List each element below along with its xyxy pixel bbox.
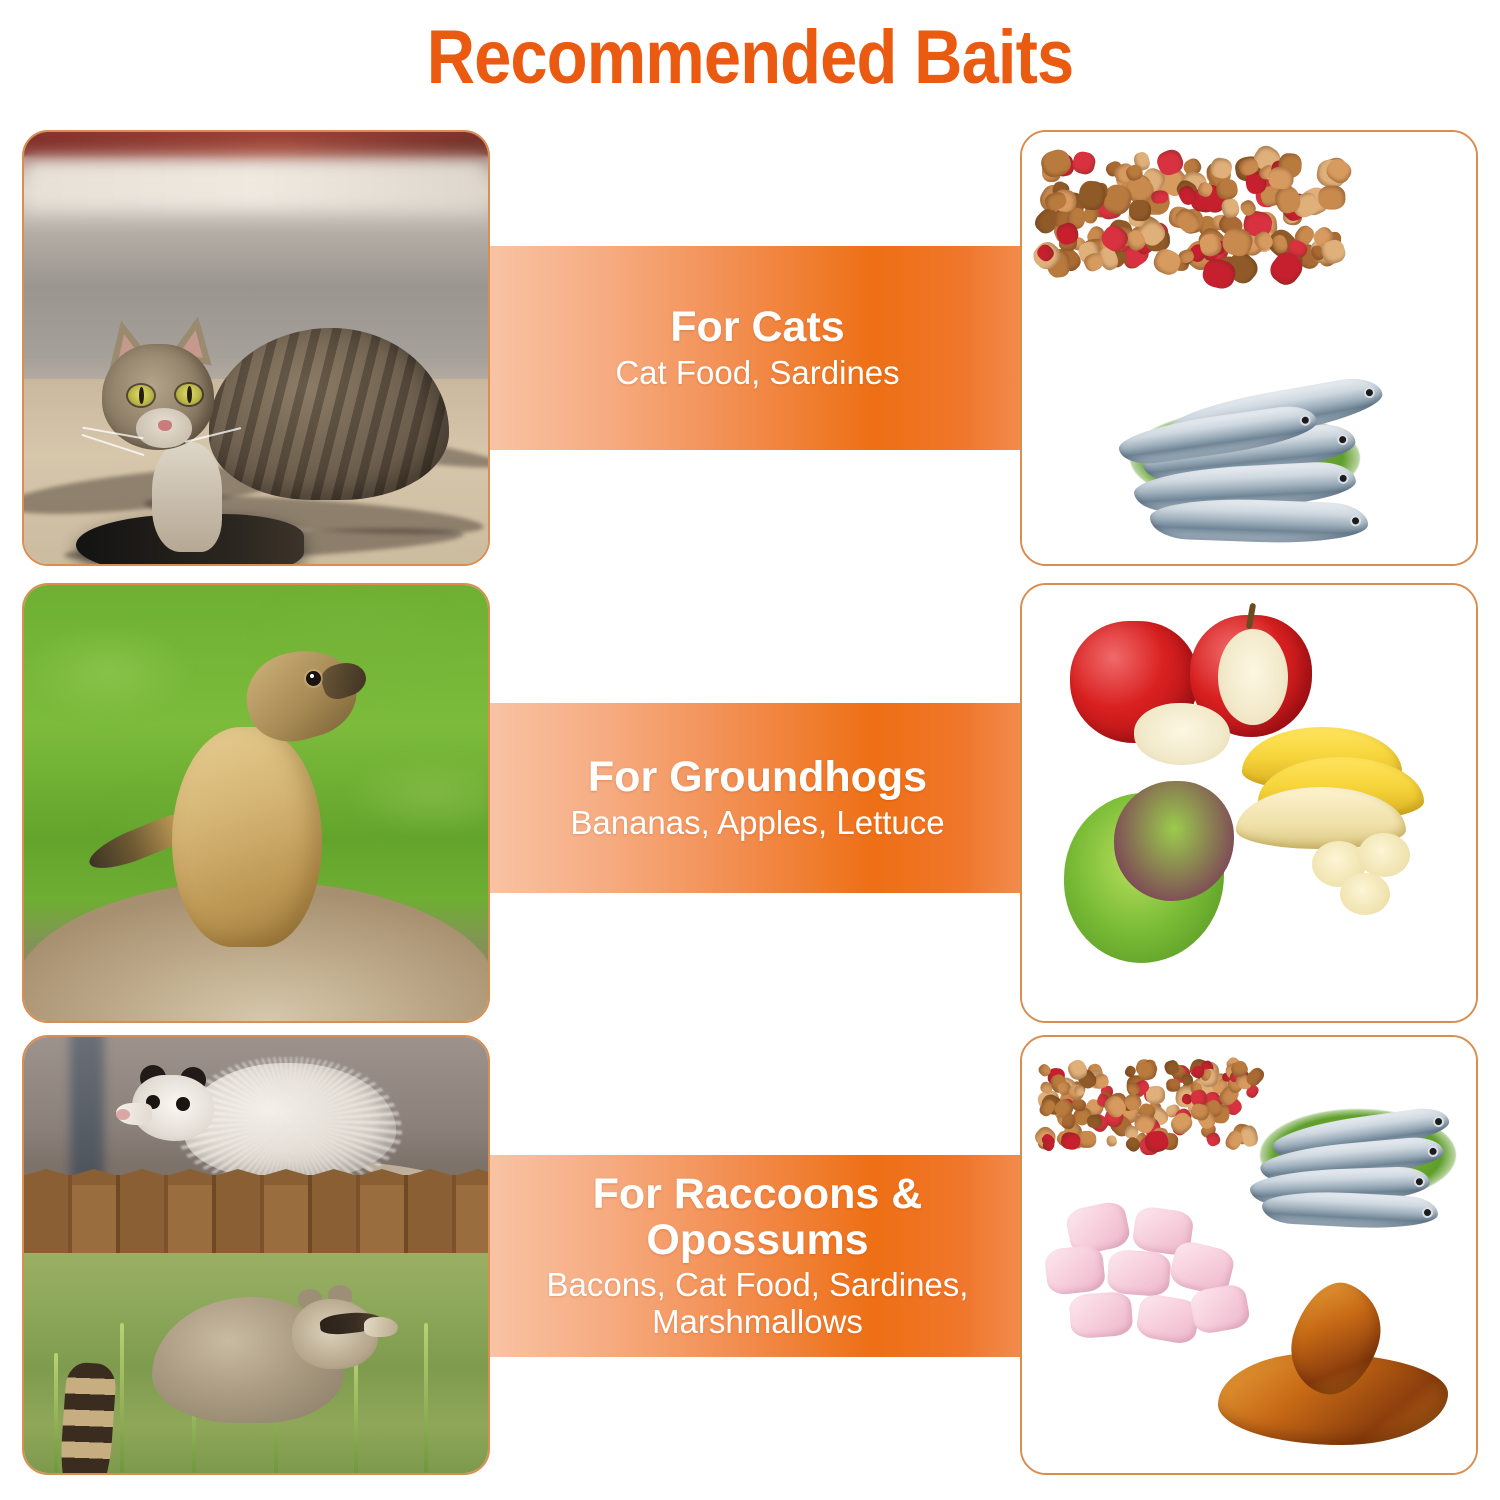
cat-body: [209, 328, 449, 500]
groundhog-photo: [24, 585, 488, 1021]
grass-blade: [424, 1323, 428, 1473]
cat-stripes: [209, 328, 449, 500]
kibble-piece: [1128, 200, 1150, 222]
bait-photo-card-cats: [1020, 130, 1478, 566]
cat-bait-photo: [1022, 132, 1476, 564]
apple-cut-face: [1218, 629, 1288, 725]
marshmallow: [1107, 1249, 1172, 1297]
opossum-nose: [116, 1109, 130, 1120]
bait-photo-card-groundhogs: [1020, 583, 1478, 1023]
opossum-eye-right: [176, 1097, 190, 1111]
opossum-photo: [24, 1037, 488, 1253]
groundhog-bait-photo: [1022, 585, 1476, 1021]
cat-chest: [152, 442, 222, 552]
opossum-body: [184, 1063, 396, 1179]
animal-photo-card-cats: [22, 130, 490, 566]
cat-eye-right: [176, 384, 202, 405]
raccoon-ringed-tail: [57, 1361, 117, 1473]
banner-subtitle-raccoons-opossums-line2: Marshmallows: [652, 1304, 863, 1341]
road-white-blur: [24, 158, 488, 210]
kibble-piece: [1268, 167, 1294, 190]
wooden-fence: [24, 1175, 488, 1253]
grass-blade: [54, 1353, 58, 1473]
banner-subtitle-cats: Cat Food, Sardines: [615, 355, 899, 392]
grass-blade: [354, 1355, 358, 1473]
marshmallow: [1069, 1291, 1134, 1339]
cat-food-kibble: [1036, 1055, 1268, 1159]
marshmallow: [1044, 1244, 1106, 1296]
groundhog-eye: [306, 671, 321, 686]
banner-subtitle-raccoons-opossums-line1: Bacons, Cat Food, Sardines,: [547, 1267, 969, 1304]
kibble-piece: [1166, 1078, 1181, 1091]
cat-eye-left: [128, 385, 154, 406]
cat-nose: [158, 420, 172, 431]
fence-picket: [24, 1169, 68, 1185]
banner-title-raccoons-opossums-line1: For Raccoons &: [593, 1171, 923, 1217]
banner-raccoons-opossums: For Raccoons & Opossums Bacons, Cat Food…: [490, 1155, 1025, 1357]
kibble-piece: [1205, 1131, 1222, 1148]
sardine: [1149, 496, 1368, 546]
banner-groundhogs: For Groundhogs Bananas, Apples, Lettuce: [490, 703, 1025, 893]
animal-photo-card-groundhogs: [22, 583, 490, 1023]
fence-picket: [456, 1169, 488, 1185]
cat-food-kibble: [1032, 146, 1362, 286]
page-title: Recommended Baits: [90, 18, 1410, 98]
raccoon-opossum-bait-photo: [1022, 1037, 1476, 1473]
apple-slice: [1134, 703, 1230, 765]
kibble-piece: [1216, 177, 1240, 200]
kibble-piece: [1318, 186, 1345, 210]
banner-subtitle-groundhogs: Bananas, Apples, Lettuce: [570, 805, 944, 842]
banana-slice: [1358, 833, 1410, 877]
animal-photo-card-raccoons-opossums: [22, 1035, 490, 1475]
kibble-piece: [1073, 1085, 1084, 1096]
sardine: [1261, 1188, 1439, 1231]
fence-picket: [120, 1169, 164, 1185]
fence-picket: [168, 1169, 212, 1185]
blurred-window: [70, 1037, 104, 1181]
raccoon-snout: [364, 1317, 398, 1337]
bait-photo-card-raccoons-opossums: [1020, 1035, 1478, 1475]
banner-title-cats: For Cats: [670, 304, 844, 350]
banner-title-raccoons-opossums-line2: Opossums: [646, 1217, 868, 1263]
raccoon-photo: [24, 1253, 488, 1473]
kibble-piece: [1105, 1134, 1117, 1147]
marshmallows: [1042, 1205, 1262, 1355]
grass-blade: [120, 1323, 124, 1473]
kibble-piece: [1086, 1114, 1102, 1128]
groundhog-body: [172, 727, 322, 947]
kibble-piece: [1078, 180, 1106, 211]
kibble-piece: [1071, 150, 1098, 176]
banner-cats: For Cats Cat Food, Sardines: [490, 246, 1025, 450]
banana-slice: [1340, 873, 1390, 915]
banner-title-groundhogs: For Groundhogs: [588, 754, 927, 800]
cat-photo: [24, 132, 488, 564]
